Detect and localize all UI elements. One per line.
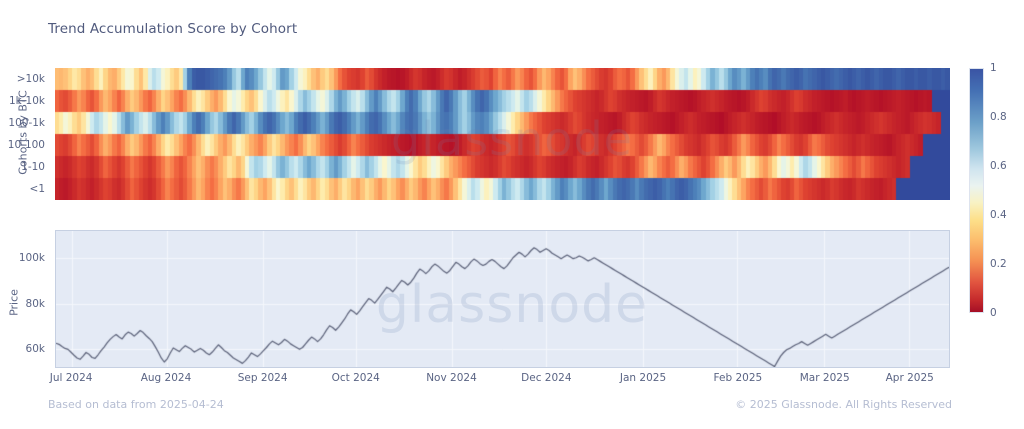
heatmap-row-label-4: 1-10 — [21, 161, 45, 173]
colorbar-tick-0.2: 0.2 — [990, 258, 1007, 270]
x-axis-tick-labels: Jul 2024Aug 2024Sep 2024Oct 2024Nov 2024… — [55, 368, 950, 390]
heatmap-row-label-1: 1k-10k — [9, 95, 45, 107]
price-tick-60k: 60k — [26, 343, 45, 355]
x-tick-4: Nov 2024 — [426, 372, 477, 384]
x-tick-9: Apr 2025 — [886, 372, 934, 384]
heatmap-row-label-5: <1 — [30, 183, 45, 195]
heatmap-plot[interactable] — [55, 68, 950, 200]
heatmap-canvas[interactable] — [55, 68, 950, 200]
heatmap-row-label-0: >10k — [17, 73, 45, 85]
colorbar-gradient — [969, 68, 984, 313]
x-tick-0: Jul 2024 — [50, 372, 93, 384]
x-tick-3: Oct 2024 — [332, 372, 380, 384]
footer-copyright: © 2025 Glassnode. All Rights Reserved — [735, 398, 952, 411]
x-tick-7: Feb 2025 — [714, 372, 763, 384]
chart-container: Trend Accumulation Score by Cohort Cohor… — [0, 0, 1024, 429]
colorbar-tick-0.4: 0.4 — [990, 209, 1007, 221]
x-tick-1: Aug 2024 — [141, 372, 192, 384]
x-tick-5: Dec 2024 — [521, 372, 571, 384]
page-title: Trend Accumulation Score by Cohort — [48, 21, 297, 37]
price-tick-100k: 100k — [19, 252, 45, 264]
heatmap-row-labels: >10k1k-10k100-1k10-1001-10<1 — [0, 68, 50, 200]
price-plot[interactable] — [55, 230, 950, 368]
price-y-tick-labels: 60k80k100k — [0, 230, 50, 368]
heatmap-row-label-3: 10-100 — [8, 139, 45, 151]
price-canvas[interactable] — [56, 231, 949, 367]
colorbar-tick-0.8: 0.8 — [990, 111, 1007, 123]
colorbar-tick-0.6: 0.6 — [990, 160, 1007, 172]
heatmap-row-label-2: 100-1k — [8, 117, 45, 129]
footer-data-source: Based on data from 2025-04-24 — [48, 398, 224, 411]
colorbar: 10.80.60.40.20 — [969, 68, 984, 313]
x-tick-2: Sep 2024 — [238, 372, 288, 384]
colorbar-tick-0: 0 — [990, 307, 997, 319]
price-tick-80k: 80k — [26, 298, 45, 310]
x-tick-6: Jan 2025 — [620, 372, 666, 384]
x-tick-8: Mar 2025 — [800, 372, 850, 384]
colorbar-tick-1: 1 — [990, 62, 997, 74]
